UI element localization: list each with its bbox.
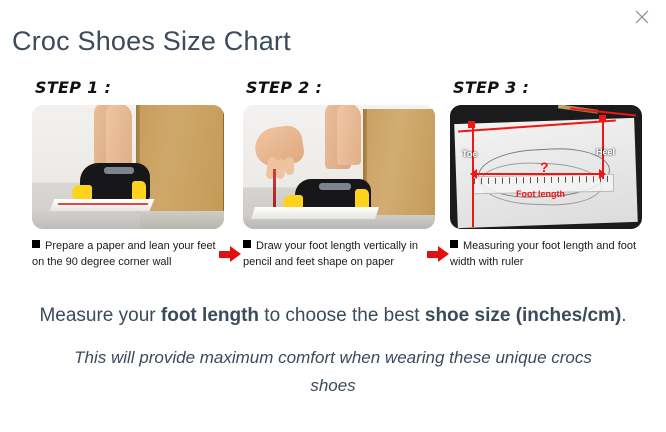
paper-sheet <box>50 199 155 211</box>
leg-front <box>106 105 132 169</box>
step-1: STEP 1 : Prepare a paper and lean your f… <box>32 78 228 270</box>
step-2: STEP 2 : Draw your foot len <box>243 78 439 270</box>
step-2-caption-text: Draw your foot length vertically in penc… <box>243 240 418 268</box>
toe-label: Toe <box>462 149 477 159</box>
bullet-square-icon <box>32 240 40 248</box>
heel-label: Heel <box>596 147 615 157</box>
finger <box>285 157 294 175</box>
leg-front <box>337 105 361 165</box>
step-1-caption: Prepare a paper and lean your feet on th… <box>32 238 224 270</box>
step-2-photo <box>243 105 435 229</box>
arrow-head <box>438 246 449 262</box>
step-1-caption-text: Prepare a paper and lean your feet on th… <box>32 240 216 268</box>
step-2-caption: Draw your foot length vertically in penc… <box>243 238 435 270</box>
arrow-step2-to-step3-icon <box>427 246 449 262</box>
close-icon <box>628 9 656 25</box>
lead-part-3: . <box>621 305 626 326</box>
arrow-step1-to-step2-icon <box>219 246 241 262</box>
bullet-square-icon <box>243 240 251 248</box>
annotation-measure-line <box>472 173 604 175</box>
lead-bold-foot-length: foot length <box>161 305 259 326</box>
pencil <box>273 169 276 209</box>
size-chart-modal: Croc Shoes Size Chart STEP 1 : <box>0 0 666 432</box>
step-2-label: STEP 2 : <box>246 78 439 97</box>
cardboard-wall <box>367 109 435 215</box>
corner-marker-right <box>599 115 606 122</box>
lead-bold-shoe-size: shoe size (inches/cm) <box>425 305 621 326</box>
sub-text: This will provide maximum comfort when w… <box>60 344 606 400</box>
measure-arrow-right-icon <box>599 169 606 179</box>
steps-row: STEP 1 : Prepare a paper and lean your f… <box>0 78 666 288</box>
step-3: STEP 3 : Toe Heel ? <box>450 78 646 270</box>
step-1-label: STEP 1 : <box>35 78 228 97</box>
step-3-caption-text: Measuring your foot length and foot widt… <box>450 240 636 268</box>
step-3-photo: Toe Heel ? Foot length <box>450 105 642 229</box>
lead-text: Measure your foot length to choose the b… <box>0 305 666 327</box>
step-3-label: STEP 3 : <box>453 78 646 97</box>
paper-sheet <box>251 207 379 219</box>
foot-length-label: Foot length <box>516 189 565 199</box>
floor <box>32 211 224 229</box>
cardboard-wall <box>140 105 224 213</box>
sock-band <box>319 183 351 190</box>
step-1-photo <box>32 105 224 229</box>
sock-band <box>104 167 134 174</box>
page-title: Croc Shoes Size Chart <box>12 26 291 57</box>
bullet-square-icon <box>450 240 458 248</box>
step-3-caption: Measuring your foot length and foot widt… <box>450 238 642 270</box>
lead-part-2: to choose the best <box>259 305 425 326</box>
measure-arrow-left-icon <box>470 169 477 179</box>
close-button[interactable] <box>628 3 656 31</box>
corner-marker-left <box>468 121 475 128</box>
arrow-head <box>230 246 241 262</box>
paper-red-line <box>58 203 149 205</box>
question-mark-label: ? <box>540 159 549 175</box>
lead-part-1: Measure your <box>39 305 160 326</box>
